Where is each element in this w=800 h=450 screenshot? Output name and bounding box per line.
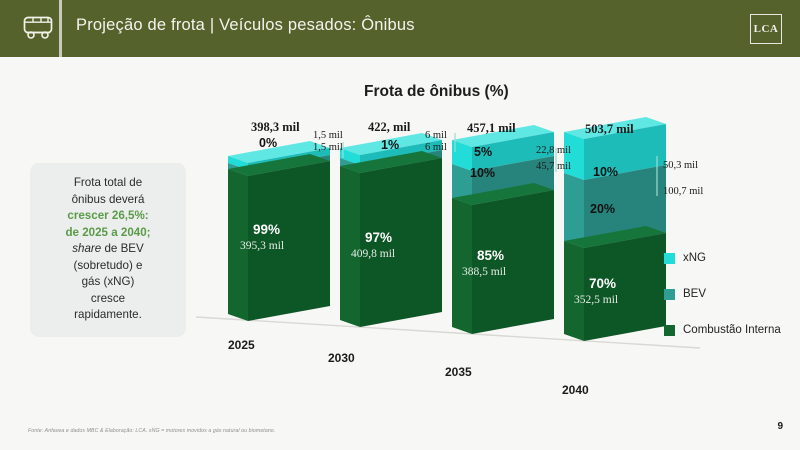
ice-pct-2030: 97% <box>365 230 392 245</box>
xng-pct-2040: 10% <box>593 165 618 179</box>
ice-pct-2025: 99% <box>253 222 280 237</box>
callout-bev-2025: 1,5 mil <box>313 142 343 153</box>
bev-pct-2040: 20% <box>590 202 615 216</box>
callout-xng-2030: 6 mil <box>425 130 447 141</box>
ice-value-2025: 395,3 mil <box>240 240 284 252</box>
chart-legend: xNG BEV Combustão Interna <box>664 252 781 360</box>
legend-label-bev: BEV <box>683 288 706 300</box>
column-total-2030: 422, mil <box>368 120 410 135</box>
bev-pct-2035: 10% <box>470 166 495 180</box>
category-label-2040: 2040 <box>562 383 589 397</box>
column-2040 <box>564 117 666 341</box>
column-2035 <box>452 125 554 334</box>
callout-xng-2025: 1,5 mil <box>313 130 343 141</box>
legend-item-combustao-interna[interactable]: Combustão Interna <box>664 324 781 336</box>
ice-pct-2035: 85% <box>477 248 504 263</box>
xng-pct-2030: 1% <box>381 138 399 152</box>
category-label-2025: 2025 <box>228 338 255 352</box>
callout-xng-2035: 22,8 mil <box>536 145 571 156</box>
legend-swatch-bev-icon <box>664 289 675 300</box>
callout-bev-2035: 45,7 mil <box>536 161 571 172</box>
page-number: 9 <box>777 421 783 432</box>
callout-bev-2040: 100,7 mil <box>663 186 703 197</box>
callout-bev-2030: 6 mil <box>425 142 447 153</box>
legend-item-bev[interactable]: BEV <box>664 288 781 300</box>
source-footnote: Fonte: Anfavea e dados MBC & Elaboração:… <box>28 428 275 434</box>
category-label-2035: 2035 <box>445 365 472 379</box>
callout-xng-2040: 50,3 mil <box>663 160 698 171</box>
column-total-2040: 503,7 mil <box>585 122 634 137</box>
ice-pct-2040: 70% <box>589 276 616 291</box>
category-label-2030: 2030 <box>328 351 355 365</box>
column-total-2025: 398,3 mil <box>251 120 300 135</box>
ice-value-2035: 388,5 mil <box>462 266 506 278</box>
xng-pct-2035: 5% <box>474 145 492 159</box>
chart-3d-columns <box>0 0 800 450</box>
legend-swatch-xng-icon <box>664 253 675 264</box>
column-total-2035: 457,1 mil <box>467 121 516 136</box>
ice-value-2040: 352,5 mil <box>574 294 618 306</box>
legend-item-xng[interactable]: xNG <box>664 252 781 264</box>
xng-pct-2025: 0% <box>259 136 277 150</box>
chart-plot-area: 398,3 mil 422, mil 457,1 mil 503,7 mil 0… <box>0 0 800 450</box>
legend-swatch-combustao-interna-icon <box>664 325 675 336</box>
legend-label-xng: xNG <box>683 252 706 264</box>
legend-label-combustao-interna: Combustão Interna <box>683 324 781 336</box>
ice-value-2030: 409,8 mil <box>351 248 395 260</box>
